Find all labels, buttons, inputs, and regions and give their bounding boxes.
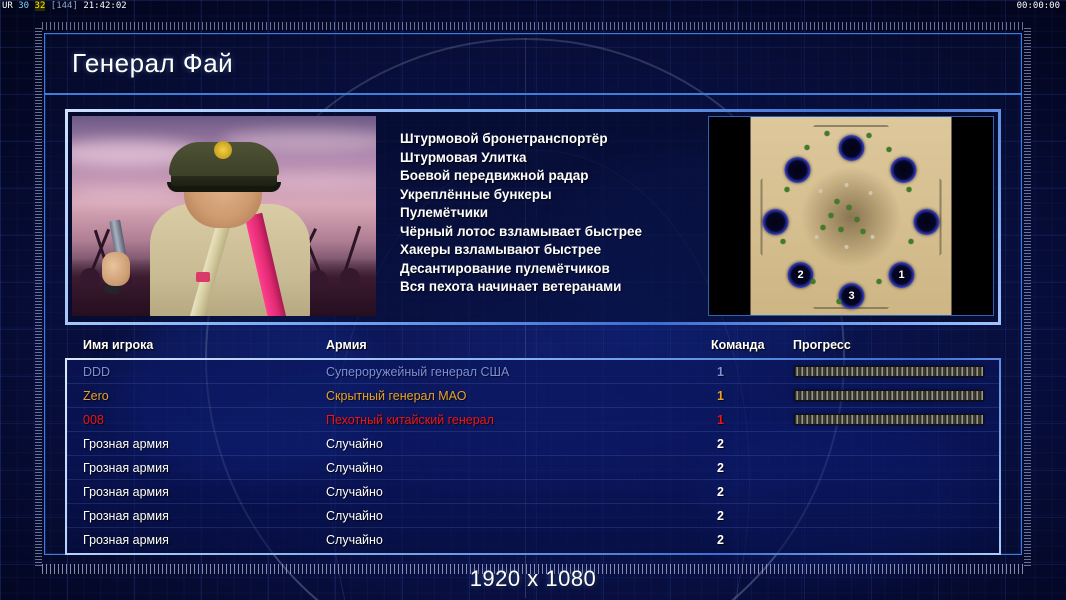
progress-bar (794, 366, 984, 377)
column-header-progress: Прогресс (793, 338, 851, 352)
map-tree (907, 187, 912, 192)
column-header-army: Армия (326, 338, 367, 352)
table-row[interactable]: Грозная армияСлучайно2 (67, 456, 999, 480)
ability-item: Укреплённые бункеры (400, 186, 708, 204)
ruler-top (42, 22, 1024, 30)
resolution-label: 1920 x 1080 (0, 566, 1066, 592)
team-cell[interactable]: 2 (717, 437, 724, 451)
map-start-position[interactable] (914, 209, 940, 235)
map-tree (785, 187, 790, 192)
map-tree (829, 213, 834, 218)
table-row[interactable]: Грозная армияСлучайно2 (67, 480, 999, 504)
general-cap-emblem (214, 141, 232, 159)
map-tree (839, 227, 844, 232)
map-start-position-2[interactable]: 2 (788, 262, 814, 288)
title-bar: Генерал Фай (44, 33, 1022, 95)
map-start-position-3[interactable]: 3 (839, 283, 865, 309)
ability-item: Штурмовая Улитка (400, 149, 708, 167)
map-tree (909, 239, 914, 244)
status-bar-left: UR 30 32 [144] 21:42:02 (2, 0, 127, 12)
map-tree (811, 279, 816, 284)
progress-cell (794, 366, 984, 377)
team-cell[interactable]: 1 (717, 365, 724, 379)
player-name-cell: DDD (83, 365, 110, 379)
player-name-cell: Грозная армия (83, 437, 169, 451)
map-start-position[interactable] (785, 157, 811, 183)
map-rock (845, 183, 849, 187)
map-tree (867, 133, 872, 138)
map-preview[interactable]: 2 3 1 (751, 117, 952, 316)
ability-list: Штурмовой бронетранспортёр Штурмовая Ули… (376, 116, 708, 318)
ability-item: Чёрный лотос взламывает быстрее (400, 223, 708, 241)
army-cell[interactable]: Случайно (326, 509, 383, 523)
map-tree (861, 229, 866, 234)
general-portrait (72, 116, 376, 316)
table-row[interactable]: Грозная армияСлучайно2 (67, 432, 999, 456)
team-cell[interactable]: 2 (717, 485, 724, 499)
progress-cell (794, 414, 984, 425)
team-cell[interactable]: 2 (717, 509, 724, 523)
map-rock (819, 189, 823, 193)
map-preview-frame[interactable]: 2 3 1 (708, 116, 994, 316)
map-tree (887, 147, 892, 152)
player-name-cell: Грозная армия (83, 509, 169, 523)
army-cell[interactable]: Случайно (326, 437, 383, 451)
map-tree (835, 199, 840, 204)
ruler-right (1024, 28, 1031, 568)
status-clock-left: 21:42:02 (83, 1, 126, 11)
player-name-cell: Грозная армия (83, 461, 169, 475)
map-tree (877, 279, 882, 284)
map-start-position[interactable] (839, 135, 865, 161)
player-name-cell: Грозная армия (83, 533, 169, 547)
map-tree (821, 225, 826, 230)
map-tree (805, 145, 810, 150)
map-start-position[interactable] (891, 157, 917, 183)
general-hand (102, 252, 130, 286)
player-name-cell: 008 (83, 413, 104, 427)
team-cell[interactable]: 1 (717, 413, 724, 427)
progress-bar (794, 414, 984, 425)
map-rock (815, 235, 819, 239)
sky-cloud-4 (72, 186, 182, 202)
player-table-header: Имя игрока Армия Команда Прогресс (65, 338, 1001, 358)
team-cell[interactable]: 1 (717, 389, 724, 403)
army-cell[interactable]: Супероружейный генерал США (326, 365, 509, 379)
army-cell[interactable]: Случайно (326, 485, 383, 499)
army-cell[interactable]: Пехотный китайский генерал (326, 413, 494, 427)
map-start-position-1[interactable]: 1 (889, 262, 915, 288)
player-name-cell: Zero (83, 389, 109, 403)
team-cell[interactable]: 2 (717, 533, 724, 547)
game-lobby-screen: UR 30 32 [144] 21:42:02 00:00:00 Генерал… (0, 0, 1066, 600)
status-num-2: 32 (35, 1, 46, 11)
ability-item: Штурмовой бронетранспортёр (400, 130, 708, 148)
ability-item: Десантирование пулемётчиков (400, 260, 708, 278)
army-cell[interactable]: Случайно (326, 533, 383, 547)
general-info-panel: Штурмовой бронетранспортёр Штурмовая Ули… (65, 109, 1001, 325)
table-row[interactable]: Грозная армияСлучайно2 (67, 504, 999, 528)
player-name-cell: Грозная армия (83, 485, 169, 499)
status-clock-right: 00:00:00 (1017, 1, 1060, 11)
status-num-1: 30 (18, 1, 29, 11)
table-row[interactable]: 008Пехотный китайский генерал1 (67, 408, 999, 432)
ability-item: Хакеры взламывают быстрее (400, 241, 708, 259)
crowd-head-1 (80, 268, 100, 288)
map-rock (845, 245, 849, 249)
map-tree (855, 217, 860, 222)
map-rock (871, 235, 875, 239)
status-bracket: [144] (51, 1, 78, 11)
map-tree (781, 239, 786, 244)
map-tree (847, 205, 852, 210)
column-header-player: Имя игрока (83, 338, 153, 352)
crowd-head-3 (308, 270, 328, 290)
crowd-head-4 (340, 268, 360, 288)
ability-item: Вся пехота начинает ветеранами (400, 278, 708, 296)
map-start-position[interactable] (763, 209, 789, 235)
army-cell[interactable]: Случайно (326, 461, 383, 475)
table-row[interactable]: ZeroСкрытный генерал МАО1 (67, 384, 999, 408)
table-row[interactable]: DDDСупероружейный генерал США1 (67, 360, 999, 384)
page-title: Генерал Фай (72, 48, 233, 79)
player-table: DDDСупероружейный генерал США1ZeroСкрытн… (65, 358, 1001, 555)
map-tree (825, 131, 830, 136)
general-medal (196, 272, 210, 282)
column-header-team: Команда (711, 338, 765, 352)
ruler-left (35, 28, 42, 568)
ability-item: Боевой передвижной радар (400, 167, 708, 185)
map-rock (869, 191, 873, 195)
status-bar-right: 00:00:00 (1017, 0, 1060, 12)
status-prefix: UR (2, 1, 13, 11)
ability-item: Пулемётчики (400, 204, 708, 222)
progress-bar (794, 390, 984, 401)
table-row[interactable]: Грозная армияСлучайно2 (67, 528, 999, 552)
team-cell[interactable]: 2 (717, 461, 724, 475)
map-tree (837, 299, 842, 304)
army-cell[interactable]: Скрытный генерал МАО (326, 389, 466, 403)
progress-cell (794, 390, 984, 401)
